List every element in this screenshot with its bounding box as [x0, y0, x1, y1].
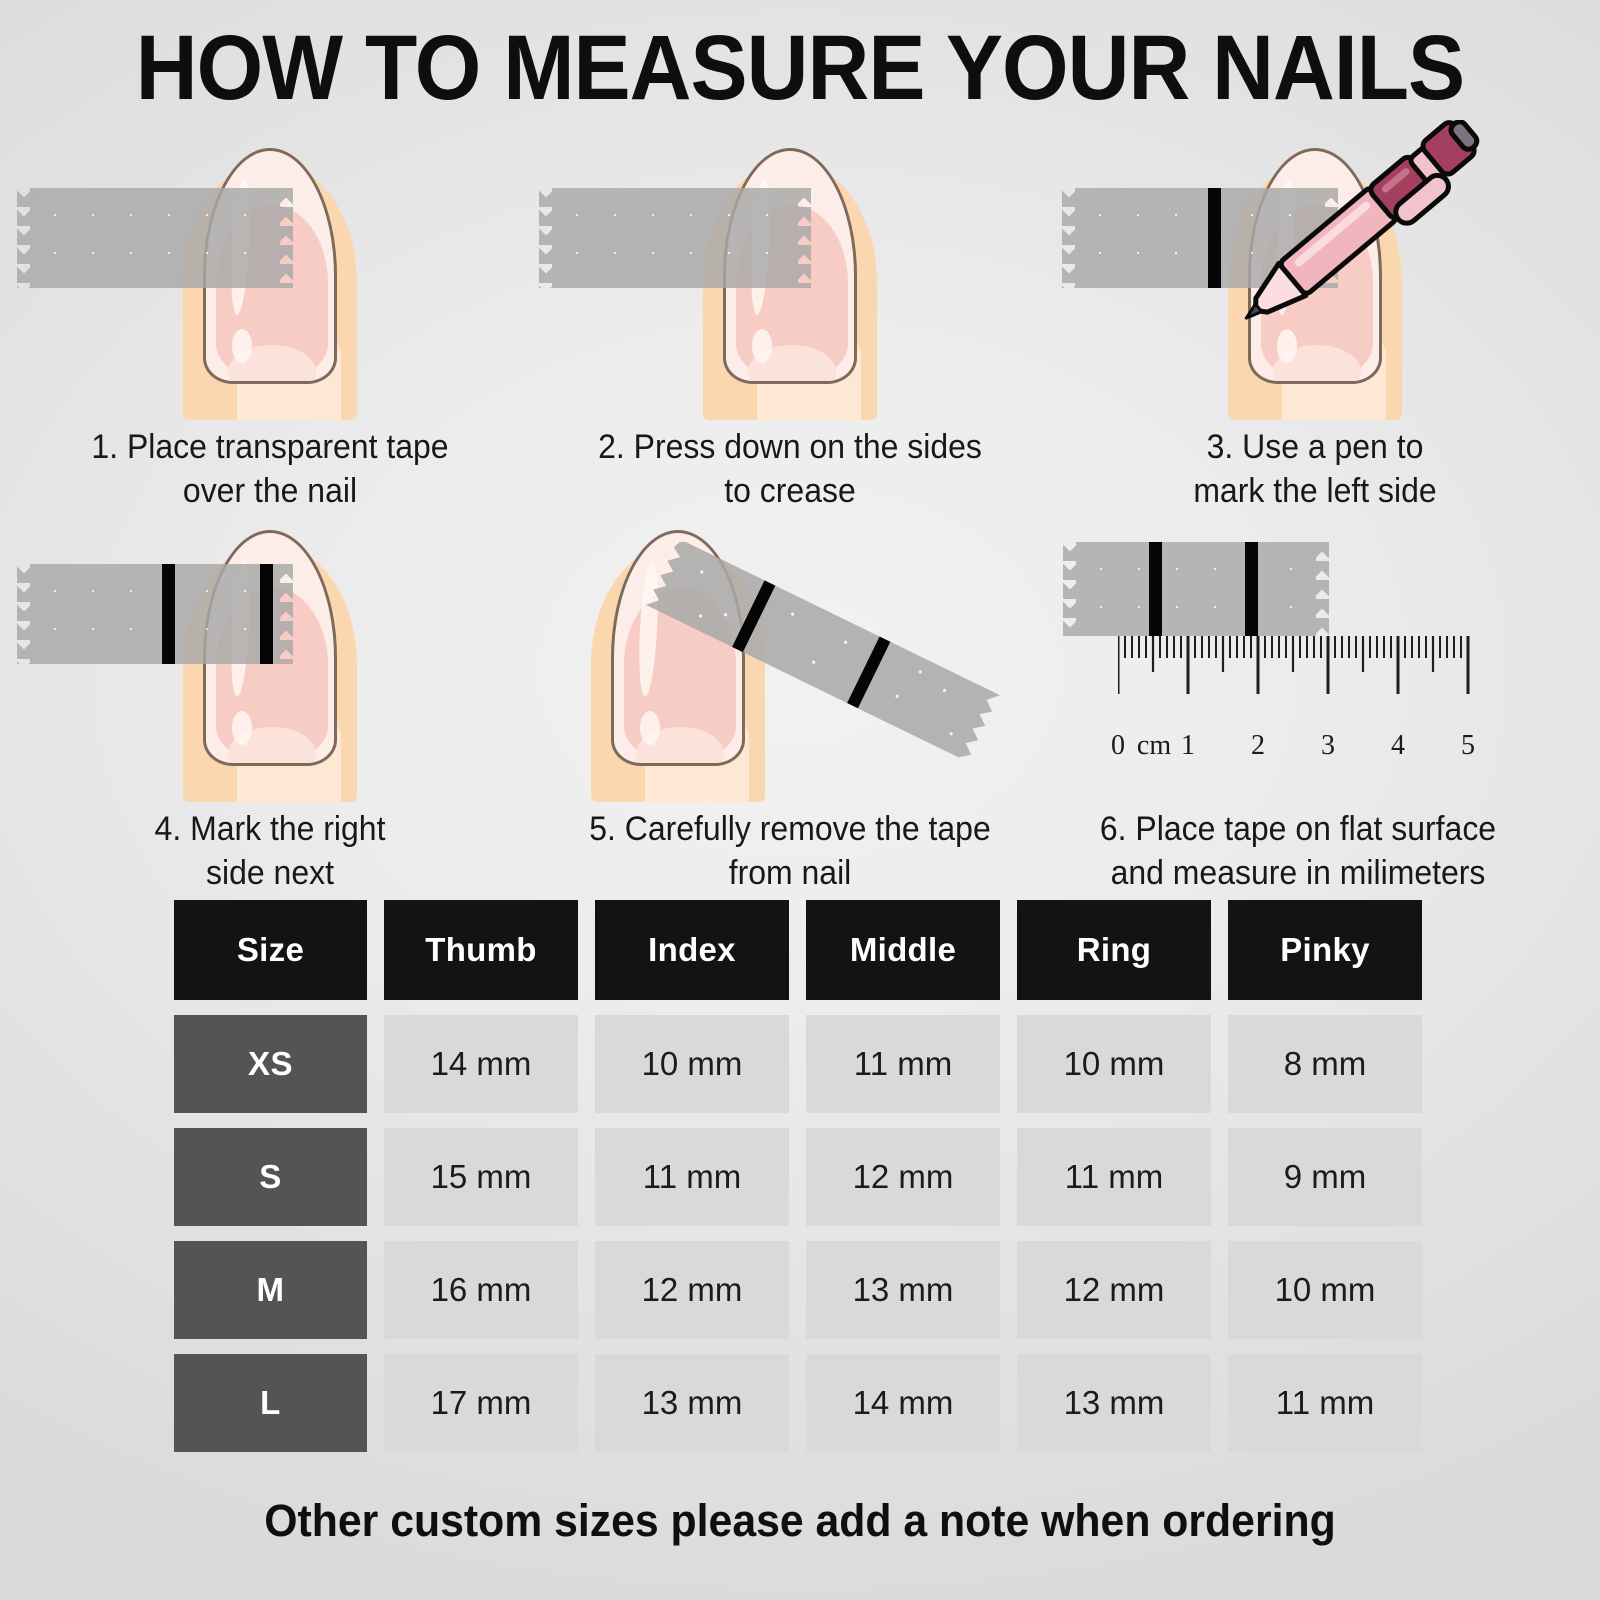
table-header-middle: Middle	[806, 900, 1000, 1000]
left-mark-line	[162, 564, 175, 664]
size-label: S	[174, 1128, 367, 1226]
step-6: 0 cm 1 2 3 4 5 6. Place tape on flat sur…	[1040, 502, 1560, 895]
step-2-caption: 2. Press down on the sides to crease	[546, 426, 1035, 513]
page-title: HOW TO MEASURE YOUR NAILS	[56, 22, 1544, 114]
step-2-caption-line1: 2. Press down on the sides	[546, 426, 1035, 470]
cell-pinky: 11 mm	[1228, 1354, 1422, 1452]
tape-dots	[30, 564, 280, 664]
size-label: XS	[174, 1015, 367, 1113]
table-row: XS 14 mm 10 mm 11 mm 10 mm 8 mm	[174, 1015, 1444, 1113]
footer-note: Other custom sizes please add a note whe…	[40, 1495, 1560, 1547]
tape-dots	[552, 188, 798, 288]
table-header-pinky: Pinky	[1228, 900, 1422, 1000]
left-mark-line	[1149, 542, 1162, 636]
cell-pinky: 10 mm	[1228, 1241, 1422, 1339]
tape-zigzag-left	[1063, 542, 1077, 636]
step-3-illustration	[1055, 120, 1575, 420]
step-5-caption: 5. Carefully remove the tape from nail	[546, 808, 1035, 895]
ruler-label-0: 0	[1111, 730, 1125, 762]
step-2-illustration	[530, 120, 1050, 420]
right-mark-line	[1245, 542, 1258, 636]
ruler-label-2: 2	[1251, 730, 1265, 762]
tape-zigzag-right	[1315, 542, 1329, 636]
table-header-row: Size Thumb Index Middle Ring Pinky	[174, 900, 1444, 1000]
step-4: 4. Mark the right side next	[10, 502, 530, 895]
cell-index: 11 mm	[595, 1128, 789, 1226]
table-row: L 17 mm 13 mm 14 mm 13 mm 11 mm	[174, 1354, 1444, 1452]
ruler-label-4: 4	[1391, 730, 1405, 762]
size-label: M	[174, 1241, 367, 1339]
cell-index: 12 mm	[595, 1241, 789, 1339]
cell-ring: 12 mm	[1017, 1241, 1211, 1339]
tape-strip	[30, 564, 280, 664]
ruler-label-5: 5	[1461, 730, 1475, 762]
table-row: M 16 mm 12 mm 13 mm 12 mm 10 mm	[174, 1241, 1444, 1339]
table-header-thumb: Thumb	[384, 900, 578, 1000]
cell-thumb: 17 mm	[384, 1354, 578, 1452]
cell-middle: 12 mm	[806, 1128, 1000, 1226]
ruler-label-3: 3	[1321, 730, 1335, 762]
step-5-caption-line1: 5. Carefully remove the tape	[546, 808, 1035, 852]
tape-zigzag-left	[17, 188, 31, 288]
ruler-ticks	[1118, 636, 1518, 706]
pen-icon	[1201, 120, 1501, 330]
tape-dots	[1076, 542, 1316, 636]
table-header-index: Index	[595, 900, 789, 1000]
tape-zigzag-left	[17, 564, 31, 664]
step-1: 1. Place transparent tape over the nail	[10, 120, 530, 513]
size-chart-table: Size Thumb Index Middle Ring Pinky XS 14…	[174, 900, 1444, 1467]
cell-ring: 10 mm	[1017, 1015, 1211, 1113]
nail-gloss-small	[1277, 329, 1297, 363]
cell-middle: 13 mm	[806, 1241, 1000, 1339]
tape-strip-creased	[552, 188, 798, 288]
step-3-caption: 3. Use a pen to mark the left side	[1071, 426, 1560, 513]
tape-dots	[30, 188, 280, 288]
step-1-caption: 1. Place transparent tape over the nail	[26, 426, 515, 513]
cell-ring: 13 mm	[1017, 1354, 1211, 1452]
ruler-label-1: 1	[1181, 730, 1195, 762]
cell-pinky: 9 mm	[1228, 1128, 1422, 1226]
table-header-size: Size	[174, 900, 367, 1000]
tape-strip	[30, 188, 280, 288]
nail-gloss-small	[232, 329, 252, 363]
tape-zigzag-right	[797, 188, 811, 288]
cell-thumb: 16 mm	[384, 1241, 578, 1339]
cell-middle: 11 mm	[806, 1015, 1000, 1113]
step-5: 5. Carefully remove the tape from nail	[530, 502, 1050, 895]
step-6-caption-line2: and measure in milimeters	[1035, 852, 1561, 896]
cell-thumb: 14 mm	[384, 1015, 578, 1113]
step-1-caption-line1: 1. Place transparent tape	[26, 426, 515, 470]
ruler: 0 cm 1 2 3 4 5	[1118, 636, 1538, 756]
step-3: 3. Use a pen to mark the left side	[1055, 120, 1575, 513]
step-2: 2. Press down on the sides to crease	[530, 120, 1050, 513]
step-1-illustration	[10, 120, 530, 420]
cell-thumb: 15 mm	[384, 1128, 578, 1226]
step-5-caption-line2: from nail	[546, 852, 1035, 896]
cell-ring: 11 mm	[1017, 1128, 1211, 1226]
cell-index: 10 mm	[595, 1015, 789, 1113]
step-5-illustration	[530, 502, 1050, 802]
nail-gloss-small	[752, 329, 772, 363]
table-header-ring: Ring	[1017, 900, 1211, 1000]
size-label: L	[174, 1354, 367, 1452]
cell-middle: 14 mm	[806, 1354, 1000, 1452]
tape-zigzag-left	[1062, 188, 1076, 288]
nail-gloss-small	[232, 711, 252, 745]
tape-strip-flat	[1076, 542, 1316, 636]
step-4-caption-line2: side next	[26, 852, 515, 896]
step-4-caption: 4. Mark the right side next	[26, 808, 515, 895]
step-4-caption-line1: 4. Mark the right	[26, 808, 515, 852]
cell-index: 13 mm	[595, 1354, 789, 1452]
step-4-illustration	[10, 502, 530, 802]
step-6-caption: 6. Place tape on flat surface and measur…	[1035, 808, 1561, 895]
tape-peeled	[610, 542, 1030, 802]
tape-zigzag-left	[539, 188, 553, 288]
tape-zigzag-right	[279, 564, 293, 664]
ruler-label-cm: cm	[1137, 730, 1171, 762]
step-6-illustration: 0 cm 1 2 3 4 5	[1040, 502, 1560, 802]
cell-pinky: 8 mm	[1228, 1015, 1422, 1113]
table-row: S 15 mm 11 mm 12 mm 11 mm 9 mm	[174, 1128, 1444, 1226]
step-6-caption-line1: 6. Place tape on flat surface	[1035, 808, 1561, 852]
step-3-caption-line1: 3. Use a pen to	[1071, 426, 1560, 470]
right-mark-line	[260, 564, 273, 664]
infographic-sheet: HOW TO MEASURE YOUR NAILS	[0, 0, 1600, 1600]
tape-zigzag-right	[279, 188, 293, 288]
